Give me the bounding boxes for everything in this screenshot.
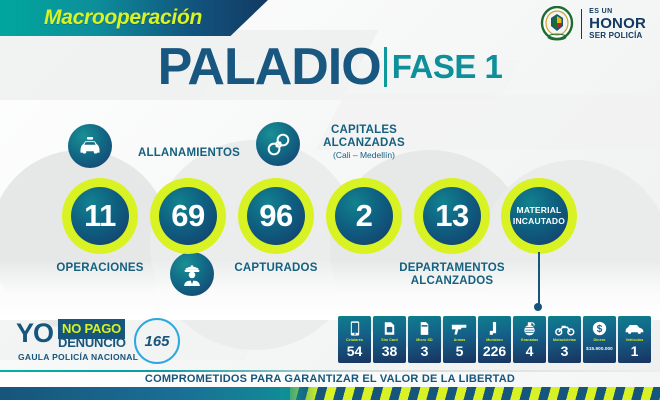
tile-value: 3 [561, 344, 569, 358]
infographic-page: Macrooperación ES UN HONOR SER POLICÍA P… [0, 0, 660, 400]
tile-value: 38 [382, 344, 398, 358]
macrooperacion-banner: Macrooperación [0, 0, 268, 36]
gaula-165-number: 165 [144, 333, 169, 350]
stat-value: 11 [84, 198, 116, 234]
motorcycle-icon [555, 319, 575, 338]
operation-phase: FASE 1 [392, 48, 503, 86]
handgun-icon [451, 319, 468, 338]
police-car-icon [68, 124, 112, 168]
police-checker-stripe [290, 387, 660, 400]
money-dollar-icon: $ [592, 319, 607, 338]
honor-text-group: ES UN HONOR SER POLICÍA [589, 8, 646, 40]
stat-departamentos: 13 [414, 178, 490, 254]
connector-dot [534, 303, 542, 311]
stat-circle-inner: 96 [247, 187, 305, 245]
tile-sim-card: Sim Card 38 [373, 316, 406, 363]
tile-armas: Armas 5 [443, 316, 476, 363]
gaula-subtitle: GAULA POLICÍA NACIONAL [18, 352, 138, 362]
caption-capturados: CAPTURADOS [218, 262, 334, 275]
tile-label: Dinero [594, 339, 606, 343]
gaula-logo: YO NO PAGO DENUNCIO GAULA POLICÍA NACION… [16, 316, 206, 364]
divider [581, 9, 583, 39]
gaula-denuncio: DENUNCIO [58, 336, 126, 349]
operation-name: PALADIO [158, 41, 381, 93]
tile-value: $15.900.000 [586, 347, 613, 352]
stat-operaciones: 11 [62, 178, 138, 254]
handcuffs-icon [256, 122, 300, 166]
macrooperacion-label: Macrooperación [44, 6, 202, 30]
stat-value: 69 [171, 198, 204, 234]
tile-value: 5 [456, 344, 464, 358]
colombian-police-shield-icon [540, 6, 574, 42]
footer-slogan: COMPROMETIDOS PARA GARANTIZAR EL VALOR D… [0, 373, 660, 385]
stat-allanamientos: 69 [150, 178, 226, 254]
svg-text:$: $ [597, 324, 603, 335]
ammunition-icon [489, 319, 500, 338]
stat-material-incautado: MATERIAL INCAUTADO [501, 178, 577, 254]
stat-value: 13 [435, 198, 468, 234]
footer-bar: COMPROMETIDOS PARA GARANTIZAR EL VALOR D… [0, 372, 660, 400]
tile-vehiculos: Vehiculos 1 [618, 316, 651, 363]
caption-capitales: CAPITALES ALCANZADAS (Cali – Medellín) [306, 124, 422, 161]
stat-circle-inner: MATERIAL INCAUTADO [510, 187, 568, 245]
tile-municion: Municion 226 [478, 316, 511, 363]
honor-line-2: HONOR [589, 16, 646, 31]
stat-circle-inner: 69 [159, 187, 217, 245]
gaula-165-badge: 165 [134, 318, 180, 364]
honor-logo-block: ES UN HONOR SER POLICÍA [540, 6, 646, 42]
sim-card-icon [384, 319, 395, 338]
title-separator [384, 47, 387, 87]
stat-capturados: 96 [238, 178, 314, 254]
stat-capitales: 2 [326, 178, 402, 254]
tile-value: 54 [347, 344, 363, 358]
connector-line [538, 252, 540, 306]
tile-celulares: Celulares 54 [338, 316, 371, 363]
tile-value: 4 [526, 344, 534, 358]
tile-dinero: $ Dinero $15.900.000 [583, 316, 616, 363]
police-officer-icon [170, 252, 214, 296]
stat-circle-inner: 2 [335, 187, 393, 245]
tile-micro-sd: Micro SD 3 [408, 316, 441, 363]
tile-value: 226 [483, 344, 506, 358]
checker-fade [280, 387, 320, 400]
seized-material-tiles: Celulares 54 Sim Card 38 Micro SD 3 Arma… [338, 316, 651, 363]
material-incautado-label: MATERIAL INCAUTADO [513, 205, 565, 226]
caption-allanamientos: ALLANAMIENTOS [128, 147, 250, 160]
stat-circle-inner: 11 [71, 187, 129, 245]
tile-value: 1 [631, 344, 639, 358]
honor-line-1: ES UN [589, 8, 646, 15]
tile-granadas: Granadas 4 [513, 316, 546, 363]
tile-value: 3 [421, 344, 429, 358]
tile-motocicletas: Motocicletas 3 [548, 316, 581, 363]
caption-operaciones: OPERACIONES [40, 262, 160, 275]
page-title: PALADIO FASE 1 [0, 38, 660, 96]
grenade-icon [522, 319, 537, 338]
footer-blue-block [0, 387, 300, 400]
gaula-nopago: NO PAGO [62, 321, 121, 336]
micro-sd-icon [420, 319, 429, 338]
caption-departamentos: DEPARTAMENTOS ALCANZADOS [385, 262, 519, 288]
mobile-phone-icon [350, 319, 360, 338]
stat-value: 96 [259, 198, 292, 234]
car-icon [624, 319, 645, 338]
stat-value: 2 [356, 198, 373, 234]
gaula-yo: YO [16, 320, 53, 347]
stat-circle-inner: 13 [423, 187, 481, 245]
